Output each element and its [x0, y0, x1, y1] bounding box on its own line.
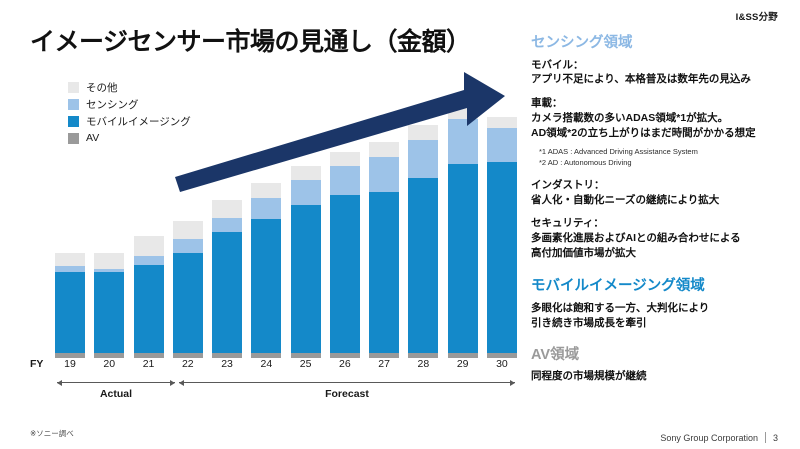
x-tick-20: 20	[94, 358, 124, 370]
bar-segment-その他	[291, 166, 321, 179]
mobile-imaging-heading: モバイルイメージング領域	[531, 277, 793, 297]
sensing-heading: センシング領域	[531, 34, 793, 54]
bar-fy-21	[134, 236, 164, 358]
av-heading: AV領域	[531, 346, 793, 366]
x-tick-29: 29	[448, 358, 478, 370]
sensing-automotive-text: カメラ搭載数の多いADAS領域*1が拡大。	[531, 111, 793, 126]
bar-fy-28	[408, 125, 438, 358]
footnote-adas: *1 ADAS : Advanced Driving Assistance Sy…	[539, 146, 793, 157]
bar-segment-モバイルイメージング	[134, 265, 164, 353]
spacer	[531, 261, 793, 277]
bar-segment-センシング	[330, 166, 360, 195]
slide: I&SS分野 イメージセンサー市場の見通し（金額） その他 センシング モバイル…	[0, 0, 800, 449]
x-tick-22: 22	[173, 358, 203, 370]
bar-segment-その他	[251, 183, 281, 198]
av-text: 同程度の市場規模が継続	[531, 369, 793, 384]
footer: Sony Group Corporation 3	[660, 432, 778, 443]
bar-fy-30	[487, 117, 517, 358]
bar-segment-その他	[487, 117, 517, 129]
legend-label-other: その他	[86, 80, 118, 95]
x-axis-ticks: 192021222324252627282930	[55, 358, 517, 370]
x-tick-28: 28	[408, 358, 438, 370]
sensing-security-label: セキュリティ：	[531, 216, 793, 231]
x-tick-27: 27	[369, 358, 399, 370]
footnote-ad: *2 AD : Autonomous Driving	[539, 157, 793, 168]
bar-segment-その他	[448, 105, 478, 119]
bar-segment-モバイルイメージング	[94, 272, 124, 353]
bar-fy-27	[369, 142, 399, 358]
bar-segment-センシング	[369, 157, 399, 192]
bar-segment-その他	[55, 253, 85, 266]
bar-fy-26	[330, 152, 360, 358]
bar-fy-23	[212, 200, 242, 358]
mobile-imaging-text2: 引き続き市場成長を牽引	[531, 316, 793, 331]
x-tick-21: 21	[134, 358, 164, 370]
bar-segment-その他	[173, 221, 203, 239]
sensing-mobile-label: モバイル：	[531, 58, 793, 73]
bar-segment-その他	[369, 142, 399, 156]
bar-fy-24	[251, 183, 281, 358]
actual-label: Actual	[57, 388, 175, 400]
bar-segment-モバイルイメージング	[173, 253, 203, 354]
legend-item-other: その他	[68, 79, 191, 95]
spacer	[531, 87, 793, 96]
bar-segment-その他	[94, 253, 124, 269]
bar-segment-センシング	[173, 239, 203, 252]
period-band-forecast: Forecast	[179, 378, 515, 404]
bar-segment-センシング	[212, 218, 242, 231]
bar-segment-その他	[408, 125, 438, 139]
bar-fy-22	[173, 221, 203, 358]
bar-segment-モバイルイメージング	[55, 272, 85, 353]
bar-segment-センシング	[408, 140, 438, 178]
bar-fy-20	[94, 253, 124, 358]
x-tick-19: 19	[55, 358, 85, 370]
bar-segment-その他	[134, 236, 164, 256]
bar-segment-モバイルイメージング	[369, 192, 399, 353]
x-axis: FY 192021222324252627282930	[22, 358, 518, 372]
bar-segment-センシング	[291, 180, 321, 205]
x-axis-prefix: FY	[30, 358, 43, 370]
bar-segment-モバイルイメージング	[291, 205, 321, 354]
footer-page-number: 3	[773, 433, 778, 443]
bar-segment-モバイルイメージング	[408, 178, 438, 353]
spacer	[531, 331, 793, 346]
bar-segment-モバイルイメージング	[251, 219, 281, 353]
bar-segment-モバイルイメージング	[330, 195, 360, 353]
x-tick-24: 24	[251, 358, 281, 370]
x-tick-25: 25	[291, 358, 321, 370]
forecast-range-line	[179, 382, 515, 383]
spacer	[531, 207, 793, 216]
source-note: ※ソニー調べ	[30, 428, 74, 439]
mobile-imaging-text: 多眼化は飽和する一方、大判化により	[531, 301, 793, 316]
bar-segment-その他	[330, 152, 360, 166]
period-bands: Actual Forecast	[55, 378, 517, 404]
forecast-label: Forecast	[179, 388, 515, 400]
footer-company: Sony Group Corporation	[660, 433, 758, 443]
bar-fy-19	[55, 253, 85, 358]
bar-segment-モバイルイメージング	[212, 232, 242, 354]
sensing-automotive-label: 車載：	[531, 96, 793, 111]
sensing-security-text: 多画素化進展およびAIとの組み合わせによる	[531, 231, 793, 246]
sensing-automotive-text2: AD領域*2の立ち上がりはまだ時間がかかる想定	[531, 126, 793, 141]
bar-segment-センシング	[134, 256, 164, 265]
sensing-mobile-text: アプリ不足により、本格普及は数年先の見込み	[531, 72, 793, 87]
bar-segment-センシング	[251, 198, 281, 219]
bar-group	[55, 95, 517, 358]
page-title: イメージセンサー市場の見通し（金額）	[30, 22, 471, 58]
sensing-security-text2: 高付加価値市場が拡大	[531, 246, 793, 261]
bar-segment-センシング	[487, 128, 517, 162]
x-tick-23: 23	[212, 358, 242, 370]
commentary-panel: センシング領域 モバイル： アプリ不足により、本格普及は数年先の見込み 車載： …	[531, 34, 793, 384]
bar-segment-モバイルイメージング	[448, 164, 478, 353]
x-tick-30: 30	[487, 358, 517, 370]
actual-range-line	[57, 382, 175, 383]
spacer	[531, 169, 793, 178]
bar-fy-29	[448, 105, 478, 358]
sensing-industry-text: 省人化・自動化ニーズの継続により拡大	[531, 193, 793, 208]
header-tag: I&SS分野	[736, 9, 778, 23]
bar-segment-その他	[212, 200, 242, 218]
footer-divider	[765, 432, 766, 443]
period-band-actual: Actual	[57, 378, 175, 404]
bar-segment-モバイルイメージング	[487, 162, 517, 354]
x-tick-26: 26	[330, 358, 360, 370]
legend-swatch-other	[68, 82, 79, 93]
bar-segment-センシング	[448, 119, 478, 164]
stacked-bar-chart	[55, 95, 517, 358]
bar-fy-25	[291, 166, 321, 358]
sensing-industry-label: インダストリ：	[531, 178, 793, 193]
